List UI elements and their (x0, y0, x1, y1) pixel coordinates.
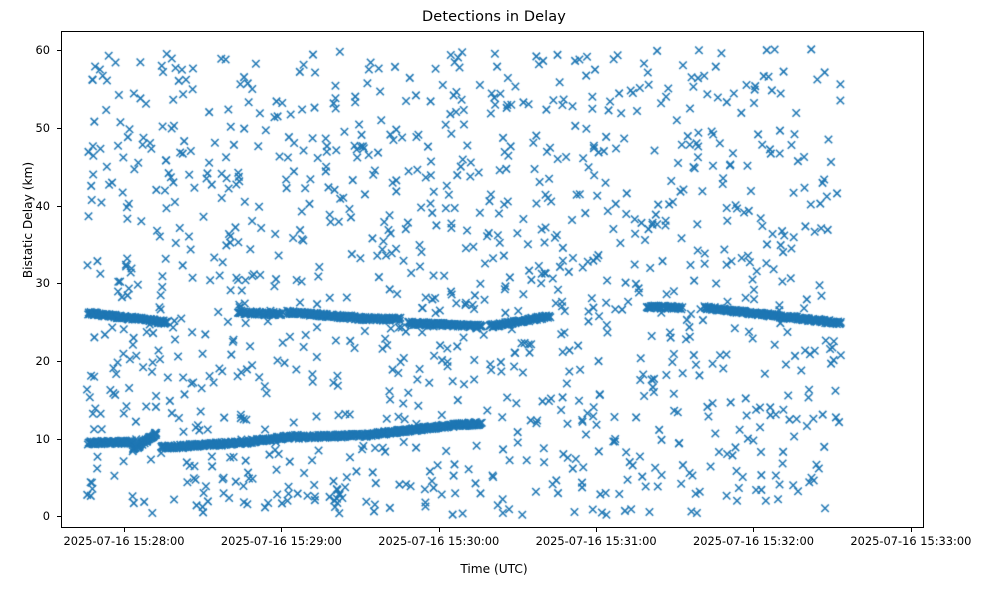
x-tick-mark (281, 528, 282, 532)
y-tick-label: 30 (6, 276, 50, 290)
y-tick-label: 50 (6, 121, 50, 135)
x-tick-mark (753, 528, 754, 532)
matplotlib-figure: Detections in Delay Time (UTC) Bistatic … (0, 0, 988, 590)
y-tick-mark (57, 128, 61, 129)
plot-area (61, 31, 924, 528)
y-tick-mark (57, 361, 61, 362)
page-title: Detections in Delay (0, 9, 988, 25)
x-tick-label: 2025-07-16 15:31:00 (536, 534, 657, 548)
y-tick-mark (57, 283, 61, 284)
x-tick-mark (439, 528, 440, 532)
y-tick-mark (57, 516, 61, 517)
x-tick-label: 2025-07-16 15:32:00 (693, 534, 814, 548)
y-tick-label: 40 (6, 199, 50, 213)
x-tick-label: 2025-07-16 15:29:00 (221, 534, 342, 548)
y-tick-label: 60 (6, 43, 50, 57)
x-tick-label: 2025-07-16 15:30:00 (378, 534, 499, 548)
y-tick-label: 0 (6, 509, 50, 523)
x-tick-label: 2025-07-16 15:28:00 (63, 534, 184, 548)
scatter-plot-canvas (62, 32, 924, 528)
x-tick-mark (124, 528, 125, 532)
x-tick-mark (911, 528, 912, 532)
x-axis-label: Time (UTC) (0, 562, 988, 576)
y-tick-label: 20 (6, 354, 50, 368)
x-tick-mark (596, 528, 597, 532)
y-tick-mark (57, 50, 61, 51)
y-tick-mark (57, 206, 61, 207)
y-tick-label: 10 (6, 432, 50, 446)
x-tick-label: 2025-07-16 15:33:00 (850, 534, 971, 548)
y-tick-mark (57, 439, 61, 440)
